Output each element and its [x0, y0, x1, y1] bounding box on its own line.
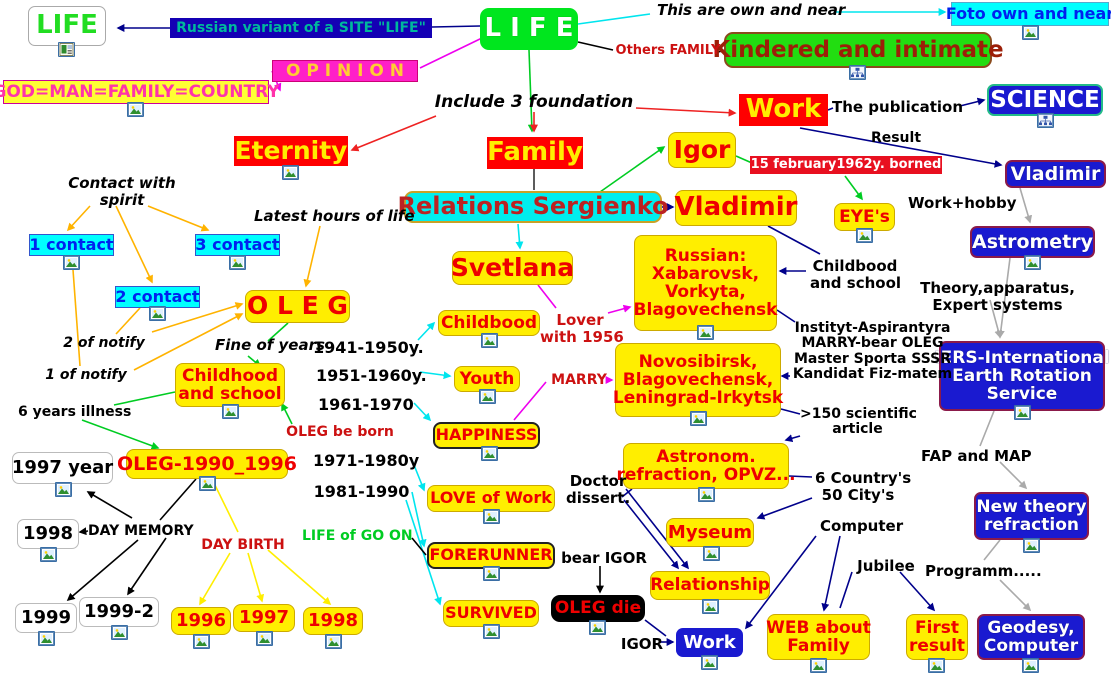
node-astrometry[interactable]: Astrometry: [970, 226, 1095, 258]
edge-label-y-1971-1980: 1971-1980y: [313, 452, 410, 470]
node-oleg-1990-1996[interactable]: OLEG-1990_1996: [126, 449, 288, 479]
edge-include-3-to-work-top: [636, 108, 735, 113]
node-astronom[interactable]: Astronom. refraction, OPVZ...: [623, 443, 789, 489]
node-childhood-school[interactable]: Childhood and school: [175, 363, 285, 407]
edge-label-marry: MARRY: [547, 373, 611, 388]
edge-latest-hours-to-oleg: [306, 226, 320, 286]
edge-label-programm: Programm.....: [925, 563, 1035, 580]
image-icon[interactable]: [589, 620, 606, 635]
image-icon[interactable]: [282, 165, 299, 180]
node-1996-yel[interactable]: 1996: [171, 607, 231, 635]
node-god-man[interactable]: GOD=MAN=FAMILY=COUNTRY: [3, 80, 269, 104]
edge-day-memory-to-1998-white: [80, 531, 88, 532]
node-1997-year[interactable]: 1997 year: [12, 452, 113, 484]
edge-label-2-of-notify: 2 of notify: [58, 336, 150, 351]
node-survived[interactable]: SURVIVED: [443, 600, 539, 627]
node-geodesy[interactable]: Geodesy, Computer: [977, 614, 1085, 660]
edge-life-main-to-opinion: [420, 38, 482, 68]
edge-life-main-to-this-are-own: [578, 14, 650, 24]
node-vladimir-blue[interactable]: Vladimir: [1005, 160, 1106, 188]
node-work-blue[interactable]: Work: [676, 628, 743, 657]
node-1997-yel[interactable]: 1997: [233, 604, 295, 632]
edge-label-bear-igor: bear IGOR: [561, 550, 647, 567]
node-vladimir-yel[interactable]: Vladimir: [675, 190, 797, 226]
node-oleg[interactable]: O L E G: [245, 290, 350, 323]
node-happiness[interactable]: HAPPINESS: [433, 422, 540, 449]
node-2-contact[interactable]: 2 contact: [115, 286, 200, 308]
node-eyes[interactable]: EYE's: [834, 203, 895, 231]
edge-include-3-to-eternity: [352, 116, 436, 150]
edge-label-y-1981-1990: 1981-1990: [313, 483, 410, 501]
edge-new-theory-to-programm: [984, 540, 1000, 560]
node-opinion[interactable]: O P I N I O N: [272, 60, 418, 82]
node-svetlana[interactable]: Svetlana: [452, 251, 573, 285]
edge-contact-with-spirit-to-3-contact: [148, 206, 208, 230]
node-russian-cities[interactable]: Russian: Xabarovsk, Vorkyta, Blagovechen…: [634, 235, 777, 331]
node-life-left[interactable]: LIFE: [28, 6, 106, 46]
edge-life-main-to-kindered: [578, 42, 613, 50]
image-icon[interactable]: [40, 547, 57, 562]
image-icon[interactable]: [483, 509, 500, 524]
edge-label-y-1961-1970: 1961-1970: [318, 396, 413, 414]
edge-label-fap-and-map: FAP and MAP: [921, 448, 1031, 465]
image-icon[interactable]: [222, 404, 239, 419]
edge-day-birth-to-1997-yel: [248, 553, 262, 601]
image-icon[interactable]: [55, 482, 72, 497]
node-oleg-die[interactable]: OLEG die: [551, 595, 645, 622]
image-icon[interactable]: [479, 389, 496, 404]
edge-label-contact-with-spirit: Contact with spirit: [62, 175, 182, 208]
edge-label-fine-of-years: Fine of years: [215, 337, 318, 354]
node-family[interactable]: Family: [487, 137, 583, 169]
node-eternity[interactable]: Eternity: [234, 136, 348, 166]
edge-label-theory-apparatus: Theory,apparatus, Expert systems: [920, 280, 1075, 313]
edge-iers-to-fap-and-map: [980, 411, 994, 446]
edge-vladimir-blue-to-astrometry: [1020, 188, 1030, 222]
image-icon[interactable]: [483, 624, 500, 639]
edge-label-y-1951-1960: 1951-1960y.: [316, 367, 421, 385]
edge-contact-with-spirit-to-2-contact: [116, 206, 152, 282]
edge-oleg-die-to-igor-bottom: [645, 620, 666, 636]
image-icon[interactable]: [1022, 25, 1039, 40]
edge-oleg-1990-1996-to-day-memory: [160, 479, 196, 520]
image-icon[interactable]: [481, 446, 498, 461]
image-icon[interactable]: [483, 566, 500, 581]
image-icon[interactable]: [325, 634, 342, 649]
image-icon[interactable]: [698, 487, 715, 502]
node-first-result[interactable]: First result: [906, 614, 968, 660]
edge-computer-to-web-family: [824, 536, 840, 610]
hierarchy-icon[interactable]: [849, 65, 866, 80]
edge-label-life-go-on: LIFE of GO ON: [302, 529, 412, 544]
edge-label-others-family: Others FAMILY: [613, 44, 723, 58]
image-icon[interactable]: [256, 631, 273, 646]
hierarchy-icon[interactable]: [1037, 113, 1054, 128]
edge-relations-to-igor-top: [600, 147, 664, 192]
edge-label-result: Result: [866, 131, 926, 146]
node-foto-own-near[interactable]: Foto own and near: [951, 2, 1109, 26]
edge-jubilee-to-web-family: [840, 572, 852, 608]
edge-label-latest-hours: Latest hours of life: [254, 208, 404, 225]
edge-svetlana-to-lover-with-1956: [538, 285, 556, 308]
image-icon[interactable]: [690, 411, 707, 426]
edge-contact-with-spirit-to-1-contact: [68, 206, 90, 230]
node-new-theory[interactable]: New theory refraction: [974, 492, 1089, 540]
edge-label-work-hobby: Work+hobby: [908, 195, 1013, 212]
node-1998-white[interactable]: 1998: [17, 519, 79, 549]
edge-fap-and-map-to-new-theory: [1000, 462, 1026, 488]
image-icon[interactable]: [810, 658, 827, 673]
edge-life-main-to-family: [529, 50, 532, 131]
image-icon[interactable]: [38, 631, 55, 646]
edge-6-country-to-myseum: [758, 498, 812, 518]
image-icon[interactable]: [111, 625, 128, 640]
edge-label-institut-aspir: Instityt-Aspirantyra MARRY-bear OLEG Mas…: [790, 321, 955, 383]
node-relationship[interactable]: Relationship: [650, 571, 770, 600]
edge-born-date-to-eyes: [845, 176, 862, 199]
image-icon[interactable]: [702, 599, 719, 614]
edge-label-day-memory: DAY MEMORY: [88, 524, 192, 539]
node-born-date[interactable]: 15 february1962y. borned: [750, 156, 942, 174]
edge-gt150-to-astronom: [786, 436, 800, 440]
node-web-family[interactable]: WEB about Family: [767, 614, 870, 660]
edge-relations-to-svetlana: [518, 224, 520, 248]
node-iers[interactable]: IERS-International Earth Rotation Servic…: [939, 341, 1105, 411]
node-1999-2[interactable]: 1999-2: [79, 597, 159, 627]
edge-life-go-on-to-forerunner: [412, 538, 426, 555]
edge-life-main-to-russian-variant: [432, 26, 480, 27]
edge-day-memory-to-1997-year: [88, 492, 132, 518]
edge-label-1-of-notify: 1 of notify: [40, 368, 132, 383]
node-myseum[interactable]: Myseum: [666, 518, 754, 547]
edge-label-this-are-own: This are own and near: [657, 2, 833, 19]
image-icon[interactable]: [856, 228, 873, 243]
edge-y-1981-1990-to-forerunner: [412, 492, 424, 546]
edge-label-jubilee: Jubilee: [855, 558, 917, 575]
edge-programm-to-geodesy: [1000, 580, 1030, 610]
image-icon[interactable]: [127, 102, 144, 117]
edge-label-igor-bottom: IGOR: [620, 636, 664, 653]
edge-day-memory-to-1999-2: [128, 538, 166, 594]
node-love-of-work[interactable]: LOVE of Work: [427, 485, 555, 512]
edge-label-oleg-be-born: OLEG be born: [286, 425, 394, 440]
node-forerunner[interactable]: FORERUNNER: [427, 542, 555, 569]
node-novosibirsk[interactable]: Novosibirsk, Blagovechensk, Leningrad-Ir…: [615, 343, 781, 417]
edge-label-day-birth: DAY BIRTH: [198, 538, 288, 553]
node-1998-yel[interactable]: 1998: [303, 607, 363, 635]
document-icon[interactable]: [58, 42, 75, 57]
edge-6-years-illness-to-oleg-1990-1996: [82, 420, 158, 448]
node-relations[interactable]: Relations Sergienko: [404, 191, 662, 223]
edge-label-gt150: >150 scientific article: [800, 407, 915, 438]
node-1-contact[interactable]: 1 contact: [29, 234, 114, 256]
image-icon[interactable]: [697, 325, 714, 340]
image-icon[interactable]: [1023, 538, 1040, 553]
node-igor-top[interactable]: Igor: [668, 132, 736, 168]
edge-label-y-1941-1950: 1941-1950y.: [313, 339, 418, 357]
mindmap-canvas: LIFERussian variant of a SITE "LIFE"L I …: [0, 0, 1111, 683]
image-icon[interactable]: [701, 655, 718, 670]
edge-label-include-3: Include 3 foundation: [434, 93, 634, 112]
edge-day-birth-to-1998-yel: [268, 550, 330, 604]
edge-label-computer: Computer: [820, 518, 900, 535]
image-icon[interactable]: [1022, 658, 1039, 673]
image-icon[interactable]: [149, 306, 166, 321]
node-1999[interactable]: 1999: [15, 603, 77, 633]
edge-novosibirsk-to-gt150: [781, 409, 800, 414]
edge-day-birth-to-1996-yel: [200, 553, 230, 604]
edge-label-doctor-dissert: Doctor dissert.: [566, 473, 630, 506]
node-work-top[interactable]: Work: [739, 94, 828, 126]
edge-label-lover-with-1956: Lover with 1956: [540, 312, 620, 345]
edge-2-contact-to-2-of-notify: [116, 308, 140, 334]
edge-oleg-be-born-to-childhood-school: [282, 404, 292, 424]
image-icon[interactable]: [703, 546, 720, 561]
image-icon[interactable]: [193, 634, 210, 649]
edge-label-the-publication: The publication: [830, 99, 965, 116]
image-icon[interactable]: [63, 255, 80, 270]
edge-y-1961-1970-to-happiness: [414, 403, 430, 420]
image-icon[interactable]: [1024, 255, 1041, 270]
node-russian-variant[interactable]: Russian variant of a SITE "LIFE": [170, 18, 432, 38]
edge-day-memory-to-1999: [68, 540, 138, 600]
image-icon[interactable]: [199, 476, 216, 491]
edge-label-6-years-illness: 6 years illness: [18, 405, 130, 420]
edge-label-6-country: 6 Country's 50 City's: [815, 470, 901, 503]
node-kindered[interactable]: Kindered and intimate: [724, 32, 992, 68]
image-icon[interactable]: [229, 255, 246, 270]
node-science[interactable]: SCIENCE: [987, 84, 1103, 116]
node-life-main[interactable]: L I F E: [480, 8, 578, 50]
node-3-contact[interactable]: 3 contact: [195, 234, 280, 256]
edge-label-childbood-school: Childbood and school: [810, 258, 900, 291]
image-icon[interactable]: [928, 658, 945, 673]
image-icon[interactable]: [1014, 405, 1031, 420]
image-icon[interactable]: [481, 333, 498, 348]
